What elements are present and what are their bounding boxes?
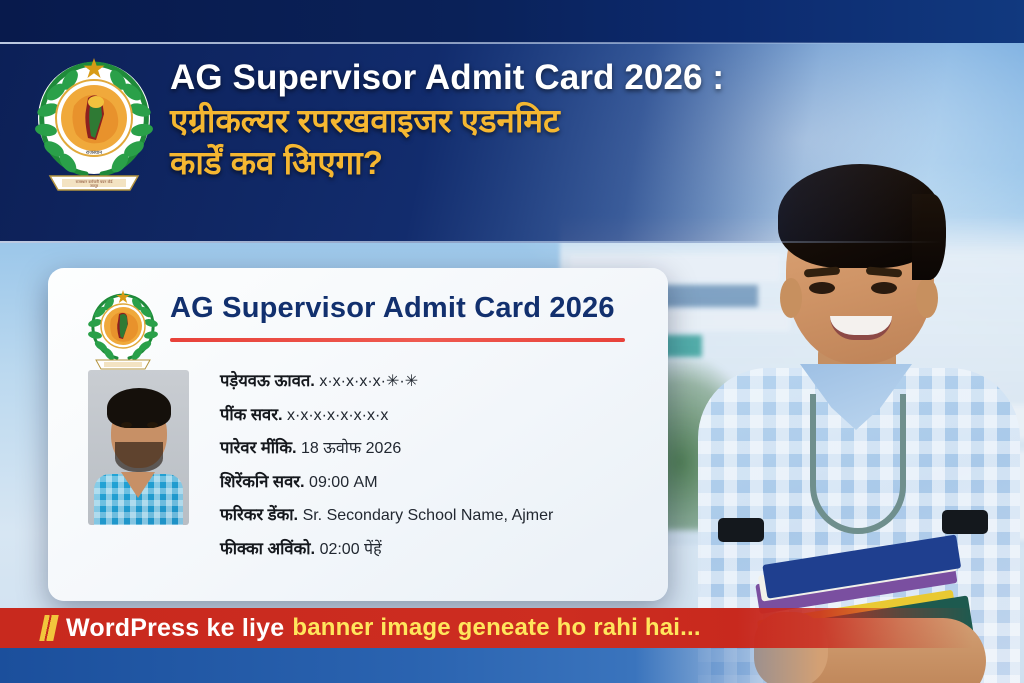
card-field-row: शिरेंकनि सवर. 09:00 AM [220, 473, 650, 492]
field-value: Sr. Secondary School Name, Ajmer [303, 507, 554, 524]
ticker-text-primary: WordPress ke liye [66, 614, 284, 643]
header-divider-bottom [0, 241, 1024, 243]
rajasthan-government-emblem-icon: राजस्थान राजस्थान कर्मचारी चयन बोर्ड जयप… [26, 48, 162, 196]
field-label: पींक सवर. [220, 406, 283, 424]
field-value: 09:00 AM [309, 474, 377, 491]
field-label: फरिकर डेंका. [220, 506, 298, 524]
field-value: x·x·x·x·x·✳·✳ [319, 373, 418, 390]
banner-image: राजस्थान राजस्थान कर्मचारी चयन बोर्ड जयप… [0, 0, 1024, 683]
field-label: शिरेंकनि सवर. [220, 473, 305, 491]
field-label: पारेवर मींकि. [220, 439, 297, 457]
admit-card: AG Supervisor Admit Card 2026 पड़ेयवऊ ऊा… [48, 268, 668, 601]
field-value: 02:00 पेंहें [320, 541, 382, 558]
field-label: पड़ेयवऊ ऊावत. [220, 372, 315, 390]
header-title-line3: कार्डें कव अिएगा? [170, 142, 790, 184]
candidate-photo [88, 370, 189, 525]
footer-strip [0, 648, 1024, 683]
header-divider-top [0, 42, 1024, 44]
status-ticker: WordPress ke liye banner image geneate h… [0, 608, 1024, 648]
field-label: फीक्का अविंको. [220, 540, 315, 558]
header-top-strip [0, 0, 1024, 43]
svg-text:राजस्थान: राजस्थान [86, 150, 102, 156]
card-emblem-icon [81, 286, 165, 372]
header-title-line2: एग्रीकल्यर रपरखवाइजर एडनमिट [170, 100, 790, 142]
card-title: AG Supervisor Admit Card 2026 [170, 292, 615, 325]
card-title-underline [170, 338, 625, 342]
ticker-text-secondary: banner image geneate ho rahi hai... [292, 614, 700, 642]
card-field-row: पारेवर मींकि. 18 ऊवोफ 2026 [220, 439, 650, 458]
card-field-row: पींक सवर. x·x·x·x·x·x·x·x [220, 406, 650, 425]
header-title-block: AG Supervisor Admit Card 2026 : एग्रीकल्… [170, 56, 790, 184]
card-field-row: फीक्का अविंको. 02:00 पेंहें [220, 540, 650, 559]
pause-bars-icon [39, 615, 59, 641]
card-fields: पड़ेयवऊ ऊावत. x·x·x·x·x·✳·✳ पींक सवर. x·… [220, 372, 650, 573]
header-title-line1: AG Supervisor Admit Card 2026 : [170, 56, 790, 100]
card-field-row: फरिकर डेंका. Sr. Secondary School Name, … [220, 506, 650, 525]
field-value: x·x·x·x·x·x·x·x [287, 407, 388, 424]
field-value: 18 ऊवोफ 2026 [301, 440, 401, 457]
svg-text:जयपुर: जयपुर [90, 184, 99, 188]
card-field-row: पड़ेयवऊ ऊावत. x·x·x·x·x·✳·✳ [220, 372, 650, 391]
